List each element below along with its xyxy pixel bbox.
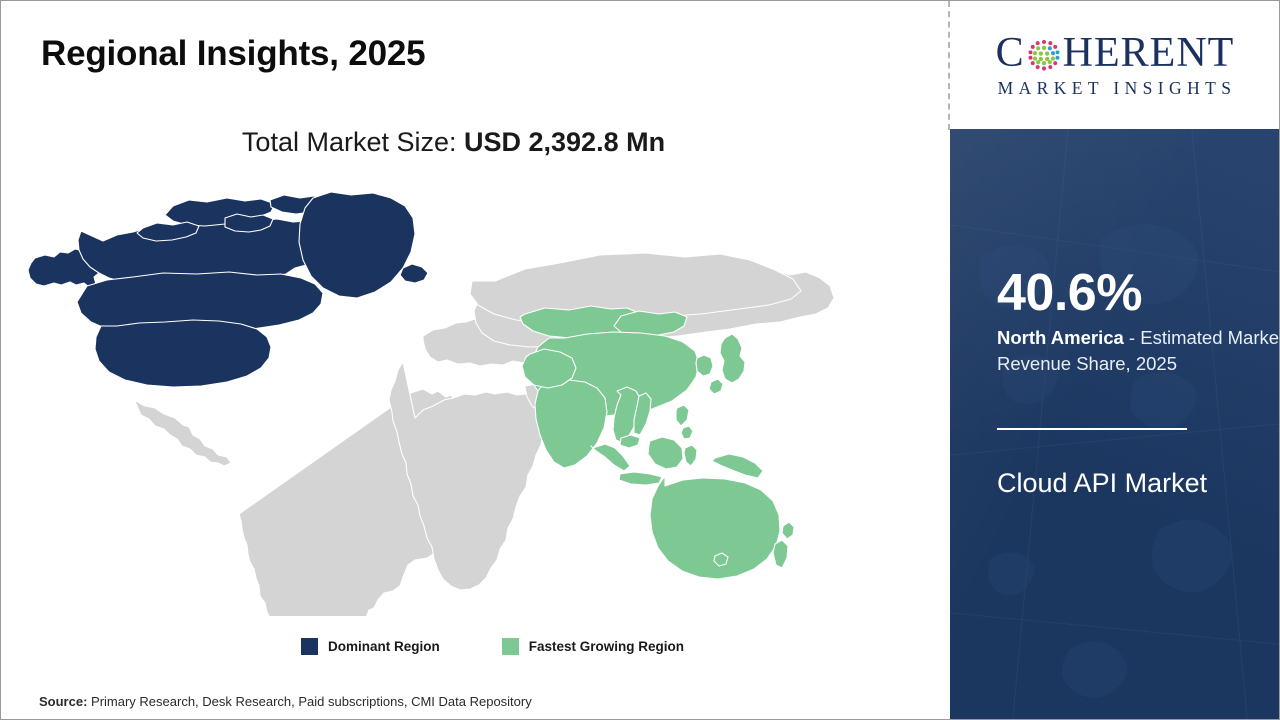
source-label: Source: — [39, 694, 87, 709]
stat-region-name: North America — [997, 327, 1124, 348]
total-market-size: Total Market Size: USD 2,392.8 Mn — [1, 127, 906, 158]
map-region-asia-pacific — [520, 306, 794, 579]
logo-tagline: MARKET INSIGHTS — [994, 78, 1237, 99]
source-note: Source: Primary Research, Desk Research,… — [39, 694, 532, 709]
coherent-market-insights-logo: C — [970, 23, 1260, 107]
total-market-size-label: Total Market Size: — [242, 127, 464, 157]
legend-label: Fastest Growing Region — [529, 639, 684, 654]
legend-label: Dominant Region — [328, 639, 440, 654]
total-market-size-value: USD 2,392.8 Mn — [464, 127, 665, 157]
page-title: Regional Insights, 2025 — [41, 34, 425, 74]
legend-swatch-icon — [502, 638, 519, 655]
right-stat-panel: 40.6% North America - Estimated Market R… — [950, 129, 1280, 720]
market-name: Cloud API Market — [997, 464, 1247, 502]
legend-swatch-icon — [301, 638, 318, 655]
stat-caption: North America - Estimated Market Revenue… — [997, 325, 1280, 378]
logo-brand-part2: HERENT — [1063, 32, 1235, 74]
logo-brand: C — [996, 32, 1235, 74]
legend-item-dominant: Dominant Region — [301, 638, 440, 655]
map-legend: Dominant Region Fastest Growing Region — [301, 638, 684, 655]
logo-container: C — [950, 1, 1280, 129]
infographic-page: Regional Insights, 2025 Total Market Siz… — [0, 0, 1280, 720]
panel-divider-rule — [997, 428, 1187, 430]
left-content: Regional Insights, 2025 Total Market Siz… — [1, 1, 949, 720]
panel-content: 40.6% North America - Estimated Market R… — [997, 129, 1280, 720]
world-map — [25, 186, 875, 616]
globe-dots-icon — [1026, 37, 1062, 73]
stat-percentage: 40.6% — [997, 267, 1142, 319]
logo-brand-part1: C — [996, 32, 1025, 74]
map-region-north-america — [28, 192, 428, 387]
source-text: Primary Research, Desk Research, Paid su… — [87, 694, 531, 709]
legend-item-fastest-growing: Fastest Growing Region — [502, 638, 684, 655]
